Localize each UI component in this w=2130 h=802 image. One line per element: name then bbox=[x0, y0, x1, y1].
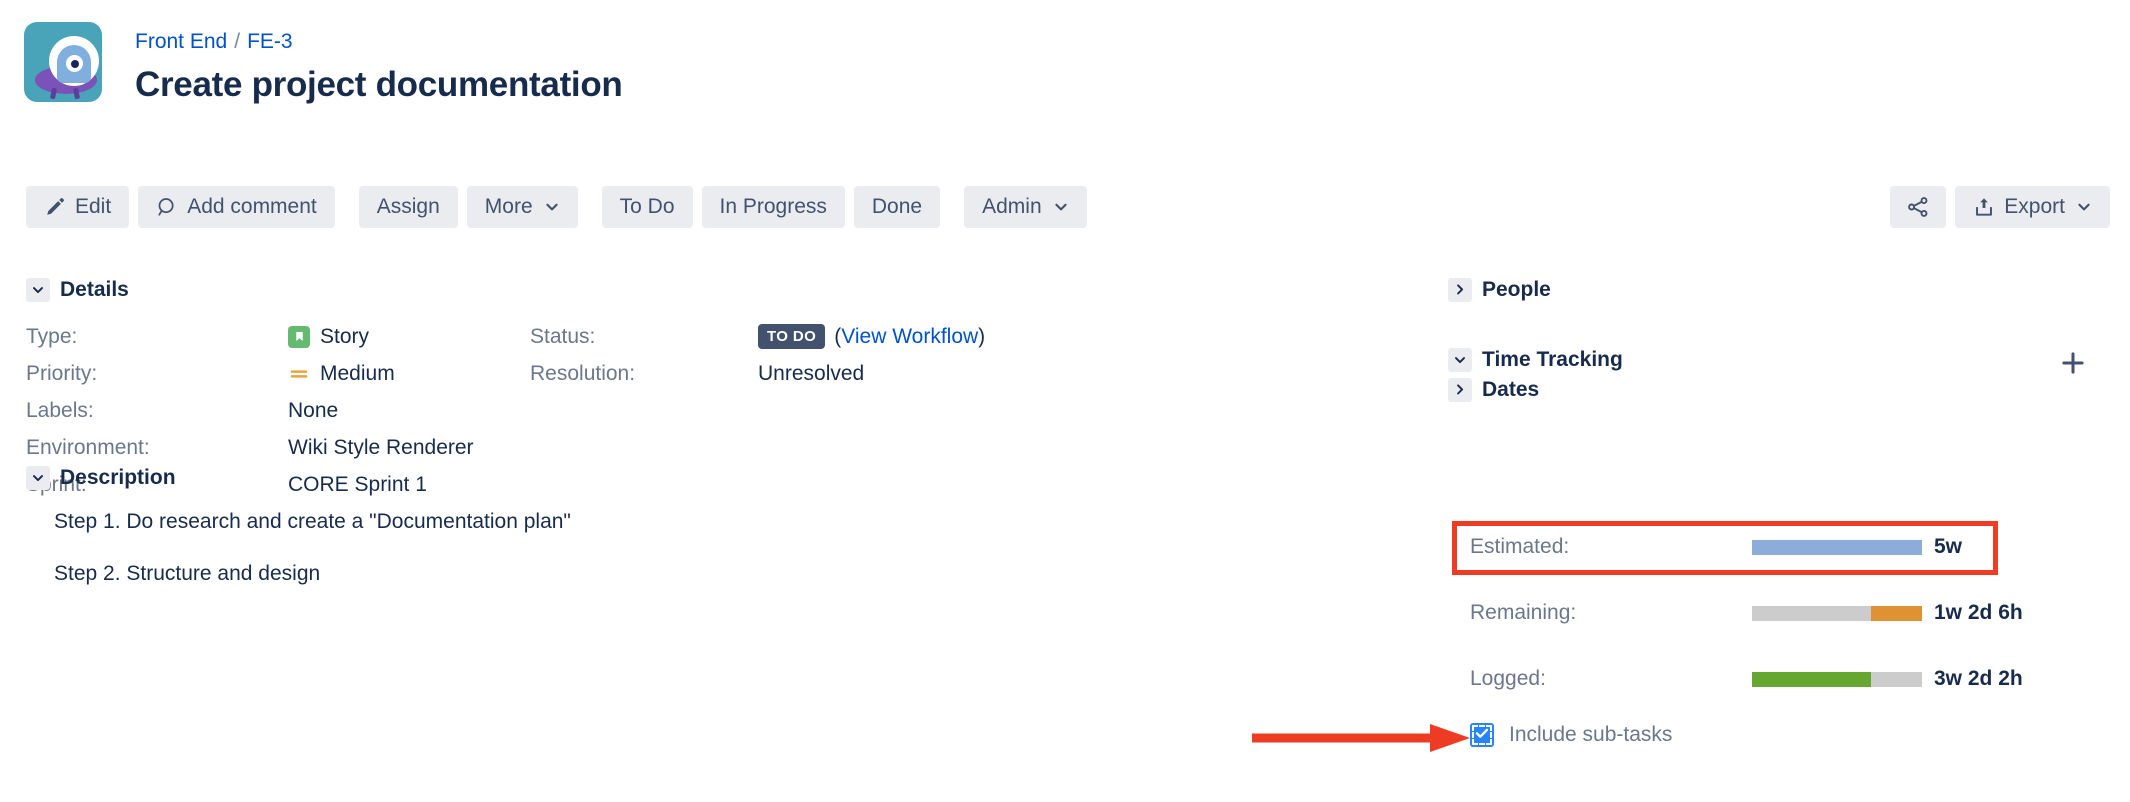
page-title: Create project documentation bbox=[135, 63, 623, 107]
logged-value: 3w 2d 2h bbox=[1934, 667, 2023, 691]
chevron-down-icon[interactable] bbox=[26, 466, 50, 490]
issue-toolbar-right: Export bbox=[1890, 186, 2110, 228]
description-section: Description Step 1. Do research and crea… bbox=[26, 466, 571, 612]
people-section-header[interactable]: People bbox=[1448, 278, 1551, 302]
breadcrumb: Front End/FE-3 bbox=[135, 29, 623, 55]
admin-button[interactable]: Admin bbox=[964, 186, 1087, 228]
field-labels: Labels: None bbox=[26, 392, 474, 429]
field-labels-label: Labels: bbox=[26, 399, 288, 423]
more-button[interactable]: More bbox=[467, 186, 578, 228]
people-section-title: People bbox=[1482, 278, 1551, 302]
edit-button-label: Edit bbox=[75, 195, 111, 219]
time-tracking-row-remaining: Remaining: 1w 2d 6h bbox=[1470, 594, 2023, 632]
time-tracking-section-title: Time Tracking bbox=[1482, 348, 1623, 372]
chevron-down-icon[interactable] bbox=[26, 278, 50, 302]
description-paragraph: Step 1. Do research and create a "Docume… bbox=[54, 508, 571, 536]
field-type-value: Story bbox=[288, 325, 369, 349]
edit-button[interactable]: Edit bbox=[26, 186, 129, 228]
add-comment-button-label: Add comment bbox=[187, 195, 317, 219]
field-environment: Environment: Wiki Style Renderer bbox=[26, 429, 474, 466]
status-badge: TO DO bbox=[758, 324, 825, 349]
field-environment-label: Environment: bbox=[26, 436, 288, 460]
breadcrumb-project-link[interactable]: Front End bbox=[135, 30, 227, 53]
chevron-right-icon[interactable] bbox=[1448, 378, 1472, 402]
description-paragraph: Step 2. Structure and design bbox=[54, 560, 571, 588]
comment-icon bbox=[156, 196, 178, 218]
workflow-close-paren: ) bbox=[978, 325, 985, 349]
priority-medium-icon bbox=[288, 363, 310, 385]
dates-section-title: Dates bbox=[1482, 378, 1539, 402]
add-comment-button[interactable]: Add comment bbox=[138, 186, 335, 228]
more-button-label: More bbox=[485, 195, 533, 219]
description-body: Step 1. Do research and create a "Docume… bbox=[54, 508, 571, 588]
issue-header: Front End/FE-3 Create project documentat… bbox=[24, 22, 623, 107]
chevron-down-icon bbox=[1053, 199, 1069, 215]
time-tracking-rows: Estimated: 5w Remaining: 1w 2d 6h Logged… bbox=[1470, 528, 2023, 698]
transition-todo-button[interactable]: To Do bbox=[602, 186, 693, 228]
breadcrumb-separator: / bbox=[234, 30, 240, 53]
details-section-header[interactable]: Details bbox=[26, 278, 129, 302]
field-environment-value: Wiki Style Renderer bbox=[288, 436, 474, 460]
plus-icon[interactable] bbox=[2058, 348, 2088, 378]
annotation-arrow bbox=[1252, 722, 1474, 754]
time-tracking-row-estimated: Estimated: 5w bbox=[1470, 528, 2023, 566]
details-right-column: Status: TO DO (View Workflow) Resolution… bbox=[530, 318, 985, 392]
transition-in-progress-label: In Progress bbox=[720, 195, 827, 219]
pencil-icon bbox=[44, 196, 66, 218]
transition-done-label: Done bbox=[872, 195, 922, 219]
logged-bar bbox=[1752, 672, 1922, 687]
field-status-label: Status: bbox=[530, 325, 758, 349]
checkmark-icon bbox=[1474, 725, 1490, 746]
chevron-down-icon bbox=[2076, 199, 2092, 215]
workflow-open-paren: ( bbox=[834, 325, 841, 349]
export-upload-icon bbox=[1973, 196, 1995, 218]
view-workflow-link[interactable]: View Workflow bbox=[841, 325, 978, 349]
estimated-label: Estimated: bbox=[1470, 535, 1752, 559]
field-priority-text: Medium bbox=[320, 362, 395, 386]
share-button[interactable] bbox=[1890, 186, 1946, 228]
jira-issue-view: Front End/FE-3 Create project documentat… bbox=[0, 0, 2130, 802]
estimated-bar bbox=[1752, 540, 1922, 555]
description-section-header[interactable]: Description bbox=[26, 466, 571, 490]
assign-button[interactable]: Assign bbox=[359, 186, 458, 228]
remaining-bar bbox=[1752, 606, 1922, 621]
field-priority: Priority: Medium bbox=[26, 355, 474, 392]
logged-label: Logged: bbox=[1470, 667, 1752, 691]
dates-section-header[interactable]: Dates bbox=[1448, 378, 1539, 402]
description-section-title: Description bbox=[60, 466, 176, 490]
export-button[interactable]: Export bbox=[1955, 186, 2110, 228]
header-text-block: Front End/FE-3 Create project documentat… bbox=[135, 22, 623, 107]
field-priority-label: Priority: bbox=[26, 362, 288, 386]
story-bookmark-icon bbox=[288, 326, 310, 348]
field-labels-value: None bbox=[288, 399, 338, 423]
field-type-label: Type: bbox=[26, 325, 288, 349]
breadcrumb-issue-key-link[interactable]: FE-3 bbox=[247, 30, 293, 53]
share-icon bbox=[1906, 195, 1930, 219]
field-status-value: TO DO (View Workflow) bbox=[758, 324, 985, 349]
transition-done-button[interactable]: Done bbox=[854, 186, 940, 228]
include-subtasks-label: Include sub-tasks bbox=[1509, 723, 1672, 747]
project-avatar-ufo-icon bbox=[24, 22, 102, 102]
remaining-label: Remaining: bbox=[1470, 601, 1752, 625]
details-section-title: Details bbox=[60, 278, 129, 302]
chevron-right-icon[interactable] bbox=[1448, 278, 1472, 302]
field-type-text: Story bbox=[320, 325, 369, 349]
issue-action-toolbar: Edit Add comment Assign More To Do In Pr… bbox=[26, 186, 1087, 228]
field-resolution: Resolution: Unresolved bbox=[530, 355, 985, 392]
estimated-value: 5w bbox=[1934, 535, 1962, 559]
admin-button-label: Admin bbox=[982, 195, 1042, 219]
assign-button-label: Assign bbox=[377, 195, 440, 219]
field-priority-value: Medium bbox=[288, 362, 395, 386]
transition-in-progress-button[interactable]: In Progress bbox=[702, 186, 845, 228]
export-button-label: Export bbox=[2004, 195, 2065, 219]
field-status: Status: TO DO (View Workflow) bbox=[530, 318, 985, 355]
field-resolution-label: Resolution: bbox=[530, 362, 758, 386]
transition-todo-label: To Do bbox=[620, 195, 675, 219]
field-type: Type: Story bbox=[26, 318, 474, 355]
include-subtasks-row[interactable]: Include sub-tasks bbox=[1470, 723, 1672, 747]
chevron-down-icon bbox=[544, 199, 560, 215]
chevron-down-icon[interactable] bbox=[1448, 348, 1472, 372]
include-subtasks-checkbox[interactable] bbox=[1470, 723, 1494, 747]
remaining-value: 1w 2d 6h bbox=[1934, 601, 2023, 625]
field-resolution-value: Unresolved bbox=[758, 362, 864, 386]
time-tracking-section-header[interactable]: Time Tracking bbox=[1448, 348, 1623, 372]
time-tracking-row-logged: Logged: 3w 2d 2h bbox=[1470, 660, 2023, 698]
